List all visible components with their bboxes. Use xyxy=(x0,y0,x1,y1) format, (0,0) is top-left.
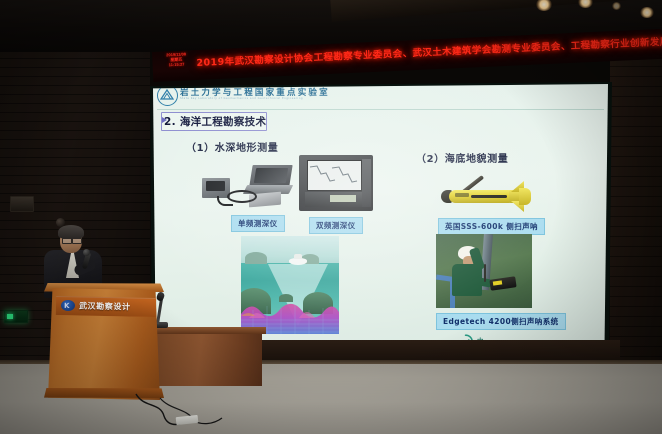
speaker-hair xyxy=(58,225,84,239)
section-heading-1: （1）水深地形测量 xyxy=(186,139,278,154)
sounder-display xyxy=(307,160,362,191)
wuhan-survey-design-logo-icon: K xyxy=(61,300,75,311)
wall-slat xyxy=(0,238,170,239)
wall-slat xyxy=(0,130,170,131)
wall-slat xyxy=(0,94,170,95)
wall-slat xyxy=(0,76,170,77)
wall-fixture xyxy=(10,196,34,212)
wall-slat xyxy=(0,220,170,221)
wall-slat xyxy=(0,229,170,230)
sounder-side-rack xyxy=(362,159,371,207)
cable-lead xyxy=(217,196,233,206)
speaker-glasses-icon xyxy=(72,238,82,244)
wall-slat xyxy=(0,139,170,140)
single-beam-echosounder-photo xyxy=(201,164,297,212)
dual-frequency-echosounder-photo xyxy=(299,155,375,213)
ceiling-spotlight xyxy=(612,2,621,10)
transducer-face xyxy=(206,181,225,191)
wall-slat xyxy=(0,175,170,176)
wall-slat xyxy=(0,166,170,167)
wall-slat xyxy=(0,148,170,149)
screenshot-root: 2019/11/08 星期五 11:15:27 2019年武汉勘察设计协会工程勘… xyxy=(0,0,662,434)
podium-logo-letter: K xyxy=(64,301,70,309)
slide-title: 2. 海洋工程勘察技术 xyxy=(164,114,266,129)
speaker-glasses-icon xyxy=(62,238,72,244)
multibeam-bathymetry-illustration xyxy=(241,236,339,334)
towfish-label xyxy=(455,193,469,197)
wall-slat xyxy=(0,121,170,122)
wall-slat xyxy=(0,58,170,59)
sonar-deployment-field-photo xyxy=(436,234,532,308)
led-banner-timestamp: 2019/11/08 星期五 11:15:27 xyxy=(156,51,197,79)
distant-island xyxy=(245,252,267,264)
laptop-display-area xyxy=(254,168,288,183)
side-scan-sonar-towfish-photo xyxy=(431,168,541,214)
caption-edgetech-4200: Edgetech 4200侧扫声呐系统 xyxy=(436,313,566,330)
wall-slat xyxy=(0,103,170,104)
floor-cables xyxy=(130,392,240,434)
wall-slat xyxy=(0,112,170,113)
wall-slat xyxy=(0,193,170,194)
wall-slat xyxy=(0,85,170,86)
ceiling-spotlight xyxy=(640,7,654,18)
section-heading-2: （2）海底地貌测量 xyxy=(416,150,508,165)
caption-single-beam: 单频测深仪 xyxy=(231,215,285,232)
wall-slat xyxy=(0,184,170,185)
towfish-fin-rear xyxy=(519,188,531,205)
podium-plaque-text: 武汉勘察设计 xyxy=(79,300,131,312)
microphone-capsule-icon xyxy=(83,249,90,256)
projection-screen: 岩土力学与工程国家重点实验室 State Key Laboratory of G… xyxy=(153,84,608,356)
exit-sign xyxy=(4,310,28,323)
wall-slat xyxy=(0,157,170,158)
towfish-transducer-stripe xyxy=(471,195,507,198)
vessel-cabin xyxy=(294,254,302,259)
wall-slat xyxy=(0,67,170,68)
caption-sss600k-sonar: 英国SSS-600k 侧扫声呐 xyxy=(438,218,545,235)
wall-slat xyxy=(0,247,170,248)
caption-dual-frequency: 双频测深仪 xyxy=(309,217,363,234)
lab-name-english: State Key Laboratory of Geomechanics and… xyxy=(180,97,303,100)
sounder-lcd xyxy=(330,195,356,202)
tow-cable xyxy=(484,264,486,282)
